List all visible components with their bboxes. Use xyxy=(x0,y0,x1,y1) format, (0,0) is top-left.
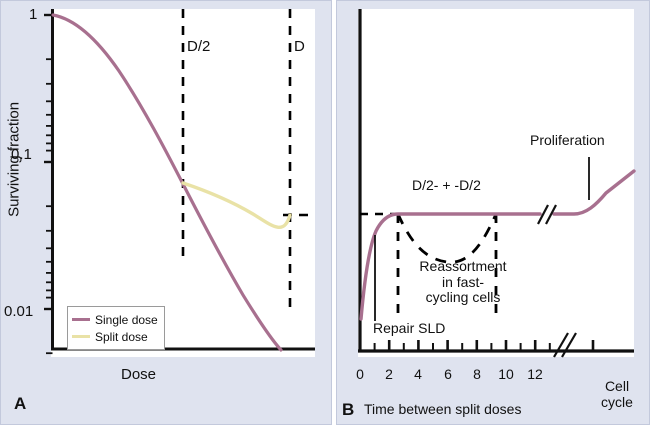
panel-a-annotation-d-half: D/2 xyxy=(187,39,210,56)
panel-a-ytick-0.1: 0.1 xyxy=(11,147,32,164)
panel-a-letter: A xyxy=(14,394,26,413)
panel-b-recovery-curve-right xyxy=(554,171,634,214)
legend-item-single-dose: Single dose xyxy=(72,311,164,328)
panel-b-annotation-repair-sld: Repair SLD xyxy=(373,321,445,337)
legend-label-split-dose: Split dose xyxy=(95,330,148,344)
panel-b-xtick-12: 12 xyxy=(525,366,545,382)
panel-b-xtick-2: 2 xyxy=(379,366,399,382)
panel-a-single-dose-curve xyxy=(53,15,281,350)
panel-b-x-axis-break-icon xyxy=(554,333,576,357)
panel-a-svg xyxy=(51,9,315,357)
panel-b-xtick-8: 8 xyxy=(467,366,487,382)
legend-swatch-split-dose xyxy=(72,335,90,338)
panel-a-ytick-1: 1 xyxy=(29,7,37,24)
panel-b-annotation-reassortment: Reassortment in fast- cycling cells xyxy=(415,259,511,306)
figure-root: Surviving fraction Dose 1 0.1 0.01 D/2 D… xyxy=(0,0,650,425)
panel-b-x-axis-label: Time between split doses xyxy=(364,402,521,418)
panel-b-cell-cycle-label: Cell cycle xyxy=(587,379,647,410)
panel-b-xtick-10: 10 xyxy=(496,366,516,382)
panel-b-xtick-4: 4 xyxy=(408,366,428,382)
legend-label-single-dose: Single dose xyxy=(95,313,158,327)
panel-a-plot-area xyxy=(51,9,315,357)
panel-a-x-axis-label: Dose xyxy=(121,367,156,384)
panel-a-annotation-d: D xyxy=(294,39,305,56)
legend-item-split-dose: Split dose xyxy=(72,328,164,345)
panel-a: Surviving fraction Dose 1 0.1 0.01 D/2 D… xyxy=(0,0,332,425)
panel-a-split-dose-curve xyxy=(183,183,290,227)
panel-b-annotation-split-sum: D/2- + -D/2 xyxy=(412,178,481,194)
panel-b-letter: B xyxy=(342,400,354,419)
panel-b-xtick-0: 0 xyxy=(350,366,370,382)
panel-b-xtick-6: 6 xyxy=(438,366,458,382)
panel-b-reassortment-dip-curve xyxy=(398,214,496,262)
panel-a-ytick-0.01: 0.01 xyxy=(4,304,33,321)
panel-b: Proliferation D/2- + -D/2 Reassortment i… xyxy=(336,0,650,425)
legend-swatch-single-dose xyxy=(72,318,90,321)
panel-a-legend: Single dose Split dose xyxy=(67,306,165,350)
panel-b-annotation-proliferation: Proliferation xyxy=(530,133,605,149)
